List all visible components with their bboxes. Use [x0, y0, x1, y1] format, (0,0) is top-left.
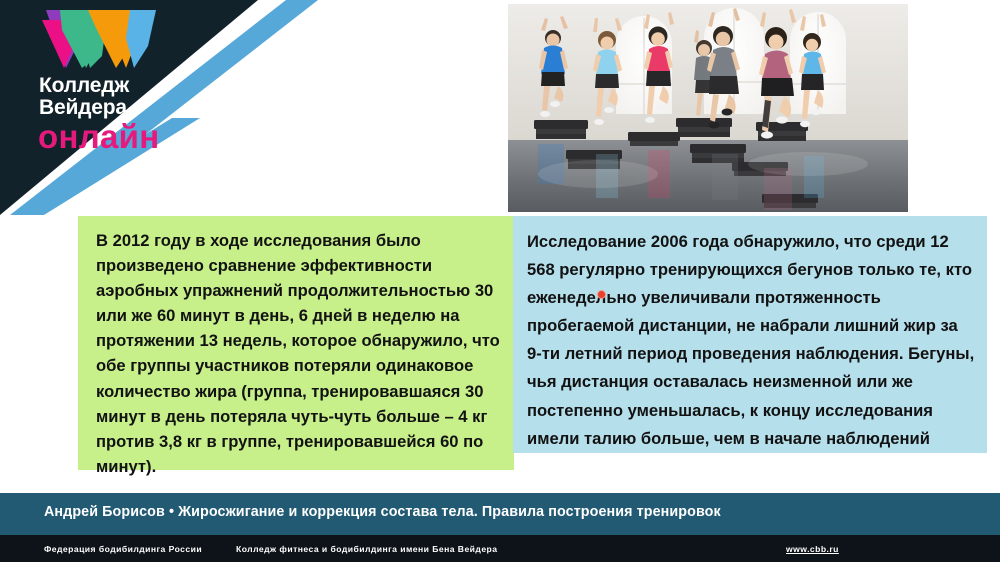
- footer-title: Андрей Борисов • Жиросжигание и коррекци…: [44, 504, 721, 520]
- step-aerobics-class-photo: [508, 4, 908, 212]
- footer-credit-college: Колледж фитнеса и бодибилдинга имени Бен…: [236, 544, 497, 554]
- footer-title-bar: Андрей Борисов • Жиросжигание и коррекци…: [0, 493, 1000, 535]
- content-box-right: Исследование 2006 года обнаружило, что с…: [513, 216, 987, 453]
- logo-line-2: Вейдера: [39, 97, 214, 118]
- photo-illustration: [508, 4, 908, 212]
- footer-credits-bar: Федерация бодибилдинга России Колледж фи…: [0, 535, 1000, 562]
- footer-credit-federation: Федерация бодибилдинга России: [44, 544, 202, 554]
- logo-line-3: онлайн: [38, 120, 214, 154]
- slide-root: Колледж Вейдера онлайн: [0, 0, 1000, 562]
- content-box-left: В 2012 году в ходе исследования было про…: [78, 216, 514, 470]
- logo-block: Колледж Вейдера онлайн: [34, 8, 214, 154]
- logo-line-1: Колледж: [39, 75, 214, 96]
- footer-website-link[interactable]: www.cbb.ru: [786, 544, 839, 554]
- college-weider-w-logo-icon: [38, 8, 166, 70]
- click-indicator: [597, 290, 606, 299]
